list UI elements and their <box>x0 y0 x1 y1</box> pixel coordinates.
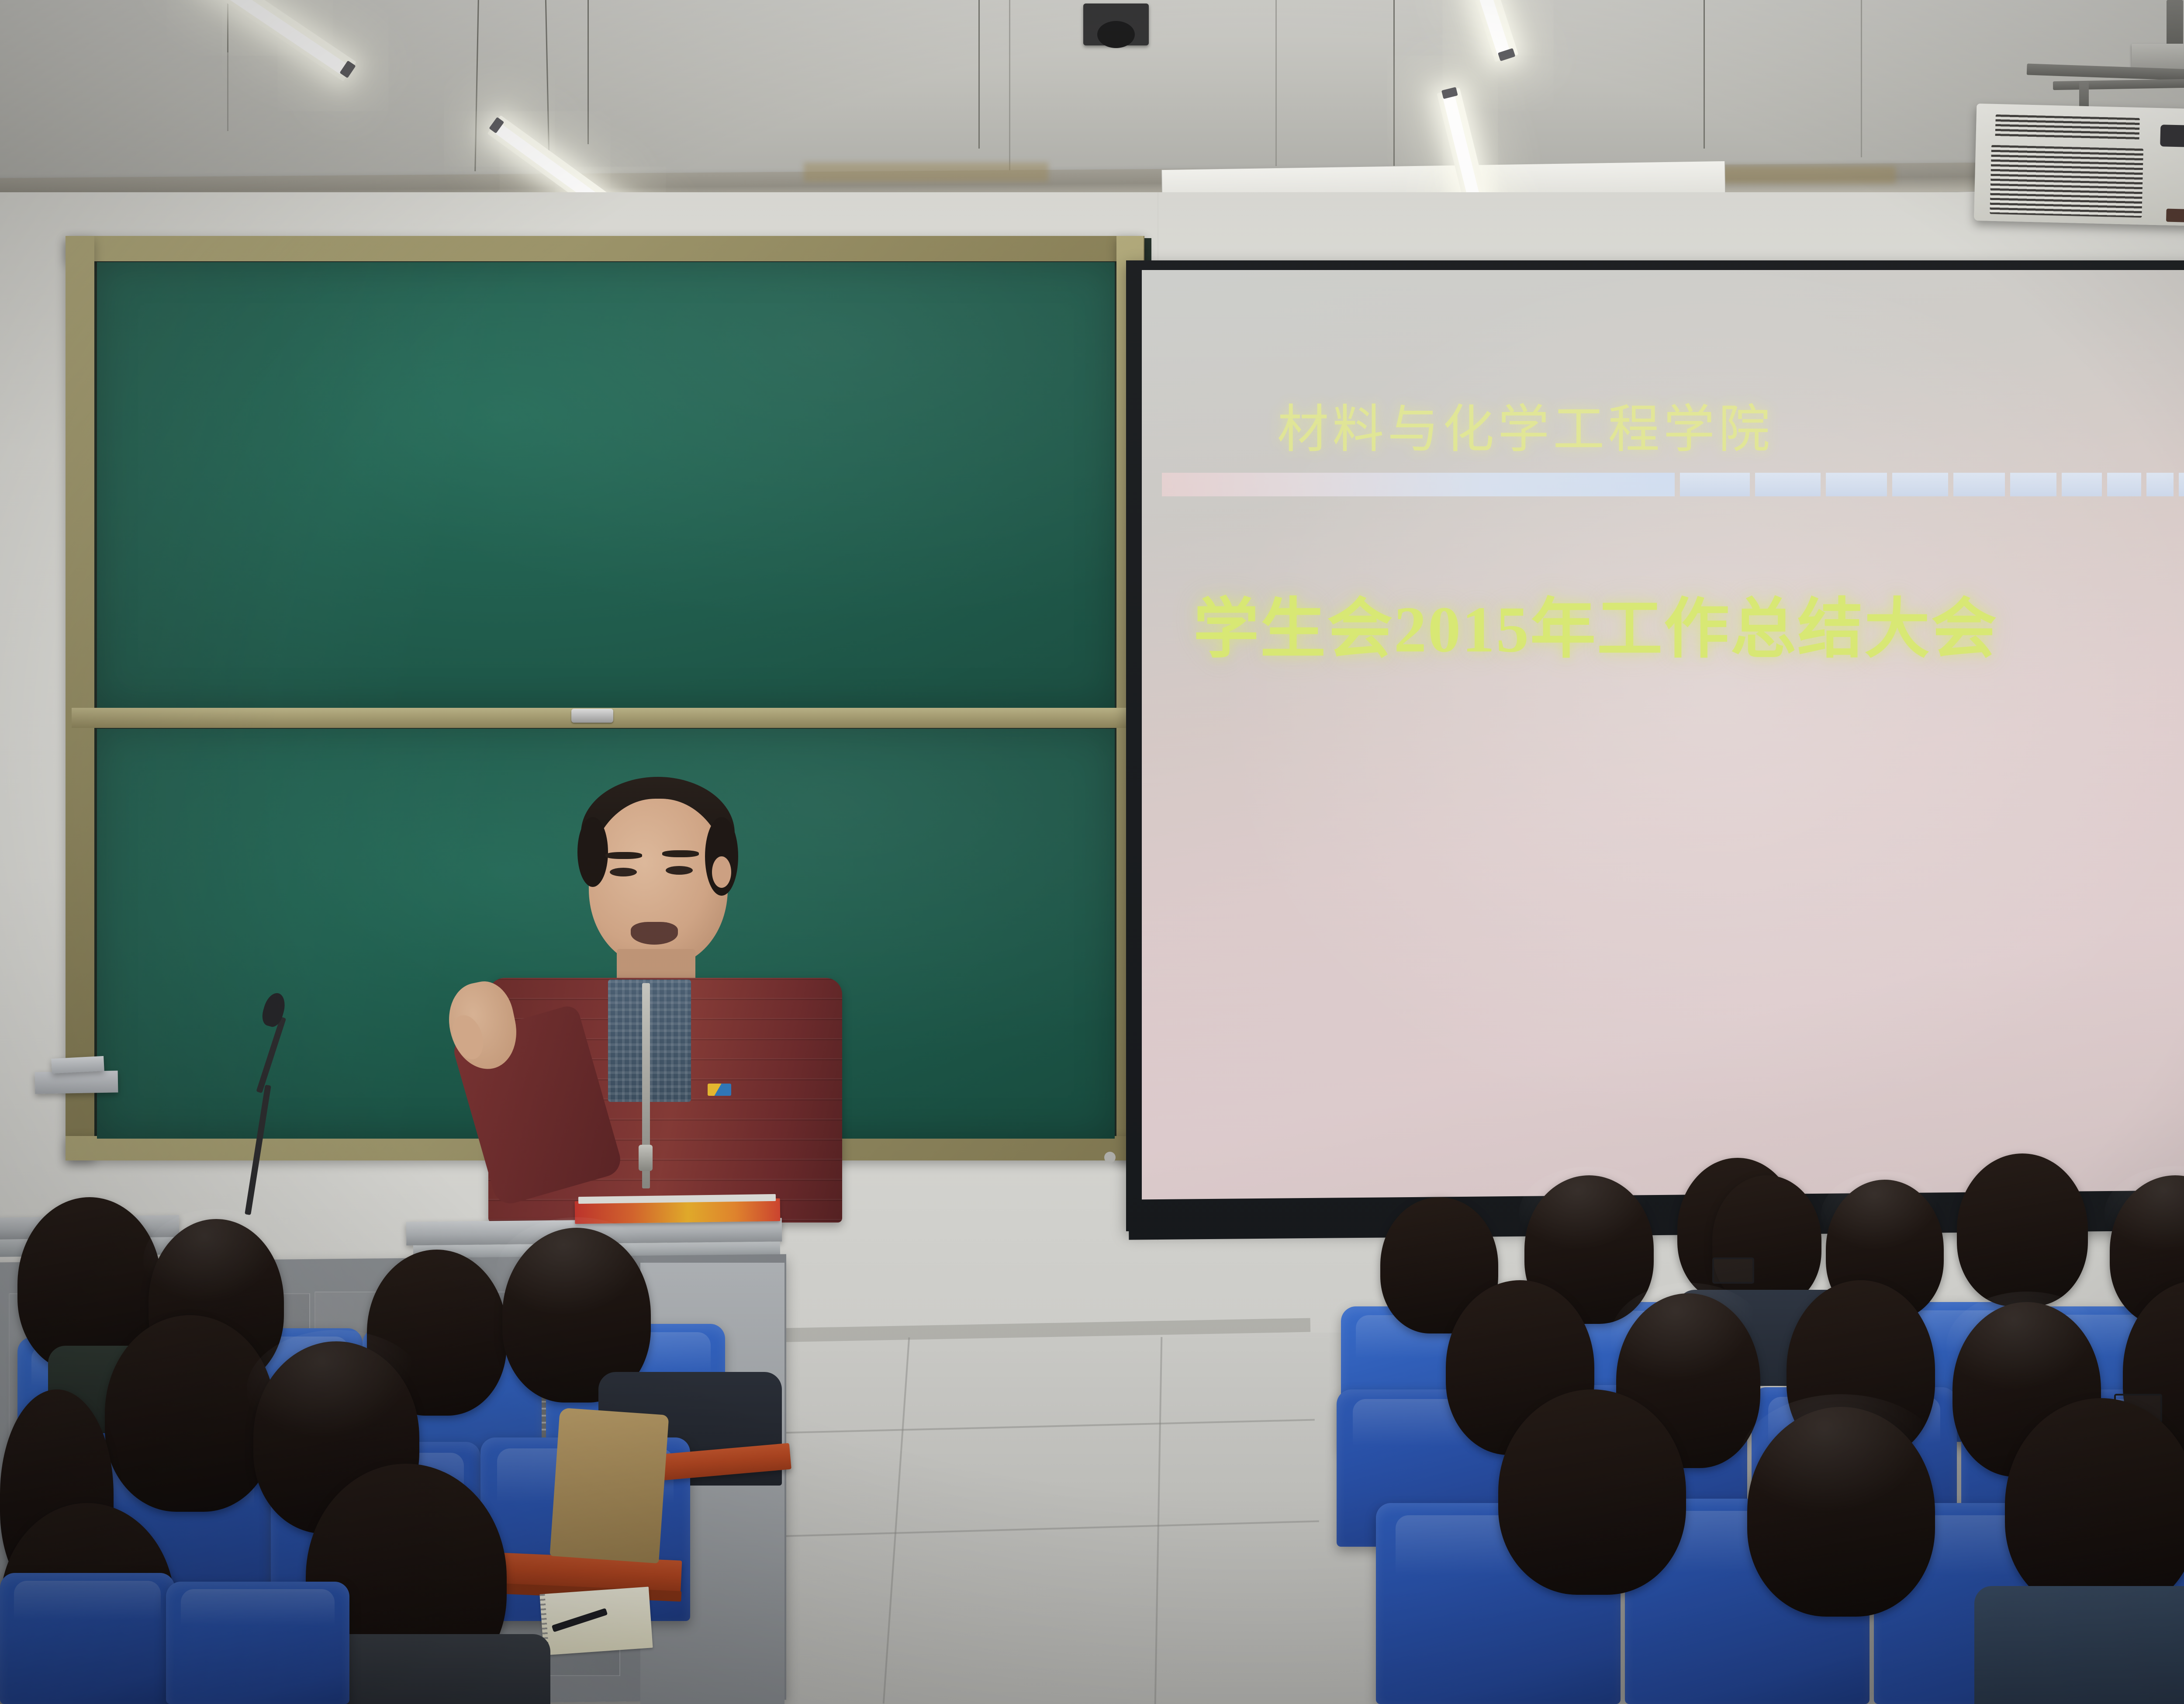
student-head <box>1498 1389 1686 1595</box>
speaker-ear <box>712 856 731 888</box>
blackboard-frame-left <box>66 236 94 1160</box>
slide-decorative-bar <box>1162 473 2184 496</box>
blackboard-panel-upper <box>97 262 1115 709</box>
blackboard-screw <box>1104 1152 1116 1163</box>
speaker-eye <box>666 866 693 875</box>
student-head <box>1747 1407 1935 1617</box>
student-head <box>2005 1398 2184 1612</box>
projection-screen-surface: 材料与化学工程学院 <box>1142 270 2184 1200</box>
speaker-eyebrow <box>662 850 699 857</box>
seat[interactable] <box>0 1573 175 1704</box>
lectern-small-plate <box>51 1056 104 1074</box>
blackboard-frame-top <box>66 236 1144 261</box>
classroom-scene: 材料与化学工程学院 <box>0 0 2184 1704</box>
speaker-zipper-pull <box>639 1145 653 1171</box>
speaker-hair-side <box>577 817 608 887</box>
speaker-mouth <box>631 922 678 945</box>
student-head <box>1712 1175 1821 1306</box>
speaker-eyebrow <box>605 852 642 859</box>
beam-stain <box>804 163 1048 182</box>
notebook[interactable] <box>539 1586 653 1655</box>
hanging-wire <box>587 0 589 144</box>
speaker-lapel-badge <box>708 1084 731 1096</box>
ceiling-panel-seam <box>1009 0 1010 188</box>
slide-heading-line1: 材料与化学工程学院 <box>1277 387 1773 462</box>
ceiling-panel-seam <box>1275 0 1277 166</box>
ceiling-projector <box>1974 104 2184 234</box>
slide-heading-line2: 学生会2015年工作总结大会 <box>1193 576 1998 671</box>
seat[interactable] <box>166 1582 349 1704</box>
speaker-eye <box>610 868 637 876</box>
student-glasses <box>1712 1257 1754 1284</box>
camera-lens-icon <box>1097 21 1135 48</box>
hanging-wire <box>978 0 980 149</box>
student-head <box>105 1315 275 1512</box>
student-shoulders <box>1974 1586 2184 1704</box>
blackboard-handle[interactable] <box>571 709 613 723</box>
lectern-small-riser <box>35 1070 118 1094</box>
hanging-wire <box>1704 0 1705 149</box>
ceiling-panel-seam <box>1861 0 1862 157</box>
student-head <box>1957 1153 2088 1306</box>
backpack <box>549 1408 669 1564</box>
